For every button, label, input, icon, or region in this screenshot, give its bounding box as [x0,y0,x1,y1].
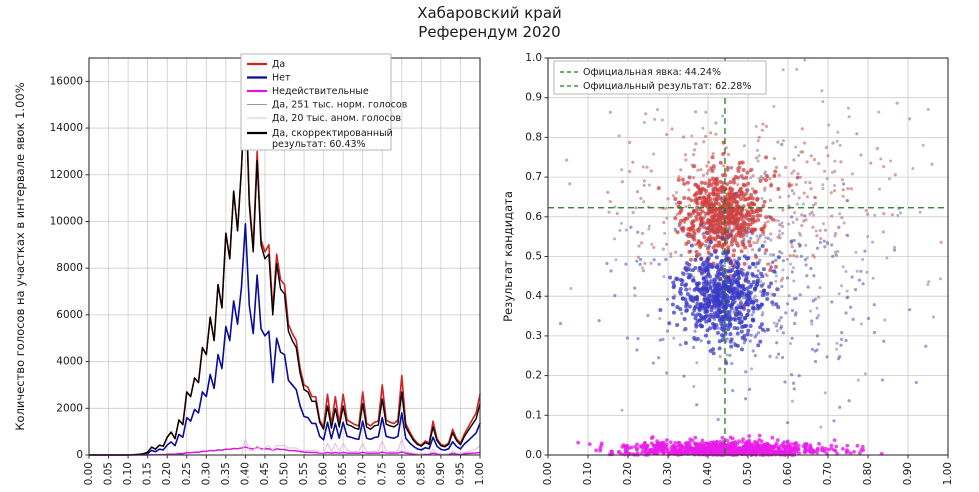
scatter-point [737,257,741,261]
scatter-point [700,223,703,226]
scatter-point [714,197,718,201]
scatter-point [717,291,721,295]
scatter-point [802,444,806,448]
scatter-point [741,437,745,441]
scatter-point [747,240,751,244]
scatter-point [620,168,623,171]
scatter-point [754,265,757,268]
scatter-point [713,445,717,449]
scatter-point [681,178,685,182]
scatter-point [836,140,839,143]
scatter-point [790,172,793,175]
scatter-point [760,274,764,278]
scatter-point [674,230,677,233]
scatter-point [835,342,838,345]
scatter-point [782,139,785,142]
scatter-point [792,158,795,161]
scatter-point [743,446,747,450]
scatter-point [808,213,811,216]
scatter-point [705,441,709,445]
scatter-point [681,297,685,301]
scatter-point [767,237,770,240]
scatter-point [826,154,829,157]
scatter-point [735,307,739,311]
scatter-point [729,345,733,349]
scatter-point [861,258,864,261]
scatter-point [796,203,799,206]
scatter-point [683,284,687,288]
scatter-point [883,319,886,322]
scatter-point [792,221,795,224]
scatter-point [866,213,869,216]
scatter-point [730,230,733,233]
scatter-point [766,263,769,266]
scatter-point [749,237,752,240]
scatter-point [817,343,820,346]
scatter-point [789,342,792,345]
scatter-point [693,148,696,151]
scatter-point [726,337,729,340]
scatter-point [741,177,744,180]
scatter-point [598,319,601,322]
scatter-point [682,135,685,138]
scatter-point [750,313,753,316]
scatter-point [739,321,743,325]
x-tick-label: 0.10 [582,462,594,485]
scatter-point [721,115,724,118]
scatter-point [750,217,753,220]
scatter-point [576,441,580,445]
scatter-points [559,59,943,457]
scatter-point [813,158,816,161]
scatter-point [810,154,813,157]
scatter-point [819,237,822,240]
scatter-point [778,174,781,177]
scatter-point [761,311,764,314]
scatter-point [932,316,935,319]
scatter-point [699,257,703,261]
scatter-point [833,234,836,237]
scatter-point [867,317,870,320]
scatter-point [702,276,706,280]
scatter-point [673,294,676,297]
scatter-point [699,217,703,221]
scatter-point [746,171,750,175]
scatter-point [692,346,695,349]
scatter-point [634,206,637,209]
scatter-point [751,248,754,251]
scatter-point [679,343,682,346]
scatter-point [621,180,624,183]
turnout-vs-result-svg: 0.000.100.200.300.400.500.600.700.800.90… [490,50,979,492]
scatter-point [781,277,784,280]
scatter-point [710,211,714,215]
scatter-point [704,135,707,138]
scatter-point [871,241,874,244]
scatter-point [628,170,631,173]
scatter-point [825,146,828,149]
x-tick-label: 1.00 [942,462,954,485]
scatter-point [803,191,806,194]
scatter-point [809,310,812,313]
scatter-point [771,303,774,306]
scatter-point [621,409,624,412]
scatter-point [733,278,737,282]
scatter-point [842,265,845,268]
scatter-point [827,123,830,126]
scatter-point [703,204,707,208]
scatter-point [655,450,659,454]
scatter-point [740,191,743,194]
scatter-point [722,274,725,277]
scatter-point [688,204,691,207]
scatter-point [769,232,772,235]
scatter-point [659,441,663,445]
scatter-point [899,211,902,214]
scatter-point [742,242,745,245]
scatter-point [839,160,842,163]
scatter-point [684,153,687,156]
scatter-point [675,202,678,205]
scatter-point [670,127,673,130]
scatter-point [707,225,710,228]
scatter-point [757,277,760,280]
scatter-point [830,191,833,194]
x-tick-label: 0.60 [318,462,330,485]
scatter-point [703,310,707,314]
scatter-point [743,262,747,266]
scatter-point [707,340,711,344]
scatter-point [777,445,781,449]
scatter-point [758,236,761,239]
scatter-point [798,232,801,235]
scatter-point [717,273,721,277]
scatter-point [701,291,704,294]
turnout-histogram-svg: 0.000.050.100.150.200.250.300.350.400.45… [0,50,490,492]
scatter-point [706,266,710,270]
scatter-point [695,361,698,364]
scatter-point [727,199,731,203]
scatter-point [662,221,665,224]
scatter-point [733,239,736,242]
scatter-point [748,292,751,295]
scatter-point [657,186,661,190]
scatter-point [753,192,756,195]
scatter-point [745,227,748,230]
scatter-point [660,449,664,453]
scatter-point [758,434,762,438]
scatter-point [565,158,568,161]
scatter-point [802,203,805,206]
scatter-point [831,171,834,174]
scatter-point [709,447,713,451]
scatter-point [717,218,720,221]
x-tick-label: 0.20 [622,462,634,485]
scatter-point [791,309,794,312]
scatter-point [810,319,813,322]
scatter-point [671,302,675,306]
scatter-point [792,266,795,269]
scatter-point [740,249,744,253]
scatter-point [758,154,761,157]
x-tick-label: 0.50 [279,462,291,485]
scatter-point [862,282,865,285]
scatter-point [783,440,786,443]
scatter-point [781,209,784,212]
scatter-point [726,353,729,356]
scatter-point [719,161,723,165]
scatter-point [721,287,724,290]
scatter-point [722,249,725,252]
scatter-point [781,221,784,224]
x-tick-label: 0.25 [181,462,193,485]
scatter-point [840,331,843,334]
scatter-point [713,250,717,254]
scatter-point [823,245,826,248]
scatter-point [786,439,790,443]
scatter-point [679,278,683,282]
scatter-point [724,187,728,191]
scatter-point [691,211,695,215]
scatter-point [677,306,680,309]
scatter-point [739,213,743,217]
scatter-point [695,302,699,306]
scatter-point [766,220,769,223]
figure-title: Хабаровский край Референдум 2020 [0,4,979,42]
scatter-point [816,307,819,310]
scatter-point [758,177,761,180]
scatter-point [839,144,842,147]
scatter-point [774,280,777,283]
scatter-point [762,267,766,271]
scatter-point [749,176,752,179]
scatter-point [807,285,810,288]
scatter-point [729,340,733,344]
scatter-point [760,439,764,443]
y-tick-label: 8000 [56,262,83,274]
legend-label-4: Да, 20 тыс. аном. голосов [272,113,401,124]
scatter-point [702,174,705,177]
scatter-point [784,311,787,314]
scatter-point [751,202,755,206]
scatter-point [731,300,734,303]
scatter-point [715,265,719,269]
scatter-point [620,222,623,225]
scatter-point [751,306,755,310]
scatter-point [686,272,689,275]
scatter-point [730,243,734,247]
x-tick-label: 1.00 [474,462,486,485]
scatter-point [647,228,650,231]
scatter-point [778,319,781,322]
scatter-point [873,214,876,217]
scatter-point [625,444,629,448]
scatter-point [833,438,837,442]
y-tick-label: 0.6 [525,211,542,223]
y-tick-label: 0.1 [525,409,542,421]
scatter-point [803,214,806,217]
scatter-point [692,153,695,156]
scatter-point [696,312,699,315]
scatter-point [752,241,755,244]
scatter-point [755,125,758,128]
scatter-point [644,112,647,115]
x-tick-label: 0.80 [396,462,408,485]
scatter-point [693,316,697,320]
scatter-point [860,322,863,325]
scatter-point [693,436,697,440]
scatter-point [748,388,751,391]
scatter-point [858,278,861,281]
scatter-point [618,229,621,232]
scatter-point [760,227,764,231]
scatter-point [720,196,723,199]
scatter-point [873,331,876,334]
scatter-point [642,166,645,169]
turnout-histogram-panel: 0.000.050.100.150.200.250.300.350.400.45… [0,50,490,492]
scatter-point [568,182,571,185]
scatter-point [770,239,773,242]
scatter-point [680,254,683,257]
scatter-point [697,229,701,233]
scatter-point [778,230,781,233]
scatter-point [856,270,859,273]
scatter-point [794,145,797,148]
scatter-point [678,201,682,205]
scatter-point [643,262,646,265]
scatter-point [672,284,676,288]
scatter-point [643,184,646,187]
scatter-point [734,312,737,315]
scatter-point [715,255,719,259]
scatter-point [642,200,645,203]
x-tick-label: 0.90 [435,462,447,485]
scatter-point [682,182,686,186]
scatter-point [690,243,694,247]
x-tick-label: 0.80 [862,462,874,485]
scatter-point [712,152,715,155]
y-tick-label: 0 [76,449,83,461]
scatter-point [815,230,818,233]
scatter-point [641,232,644,235]
scatter-point [613,294,616,297]
scatter-point [768,215,771,218]
scatter-point [662,248,665,251]
scatter-point [711,176,714,179]
scatter-point [672,194,675,197]
y-tick-label: 6000 [56,309,83,321]
scatter-point [671,447,675,451]
scatter-point [735,194,738,197]
scatter-point [740,347,744,351]
scatter-point [722,164,725,167]
scatter-point [704,283,707,286]
scatter-point [682,375,685,378]
scatter-point [684,445,688,449]
scatter-point [728,180,732,184]
scatter-point [798,374,801,377]
y-tick-label: 12000 [50,169,83,181]
scatter-point [681,271,684,274]
scatter-point [758,248,761,251]
scatter-point [700,287,704,291]
scatter-point [688,287,691,290]
scatter-point [707,161,710,164]
scatter-point [801,127,804,130]
scatter-point [748,285,752,289]
scatter-point [806,256,809,259]
scatter-point [751,319,755,323]
scatter-point [639,197,642,200]
scatter-point [714,133,717,136]
legend-label-1: Официальный результат: 62.28% [583,81,751,92]
scatter-point [854,251,857,254]
scatter-point [730,362,733,365]
scatter-point [730,213,734,217]
scatter-point [718,440,722,444]
scatter-point [832,419,835,422]
scatter-point [639,444,643,448]
scatter-point [881,378,884,381]
scatter-point [926,283,929,286]
scatter-point [793,249,796,252]
scatter-point [762,177,765,180]
scatter-point [688,445,692,449]
scatter-point [659,339,662,342]
scatter-point [636,190,639,193]
scatter-point [789,240,792,243]
scatter-point [728,354,731,357]
scatter-point [770,183,773,186]
scatter-point [787,223,790,226]
scatter-point [716,244,719,247]
scatter-point [833,189,836,192]
scatter-point [755,210,758,213]
scatter-point [639,258,642,261]
scatter-point [732,253,736,257]
scatter-point [812,299,815,302]
scatter-point [700,181,704,185]
y-tick-label: 0.3 [525,330,542,342]
scatter-point [743,450,747,454]
scatter-point [780,316,783,319]
scatter-point [736,294,740,298]
scatter-point [815,234,818,237]
scatter-point [919,211,922,214]
scatter-point [652,444,656,448]
scatter-point [842,188,845,191]
scatter-point [703,221,707,225]
scatter-point [691,163,694,166]
scatter-point [629,226,632,229]
scatter-point [695,183,699,187]
scatter-point [908,117,911,120]
scatter-point [795,255,798,258]
scatter-point [721,334,725,338]
scatter-point [788,182,791,185]
scatter-point [891,213,894,216]
scatter-point [743,304,746,307]
y-tick-label: 0.5 [525,251,542,263]
scatter-point [838,212,841,215]
scatter-point [745,276,749,280]
scatter-point [895,102,898,105]
x-tick-label: 0.90 [902,462,914,485]
scatter-point [742,324,746,328]
scatter-point [726,168,729,171]
scatter-point [826,241,829,244]
scatter-point [747,309,751,313]
